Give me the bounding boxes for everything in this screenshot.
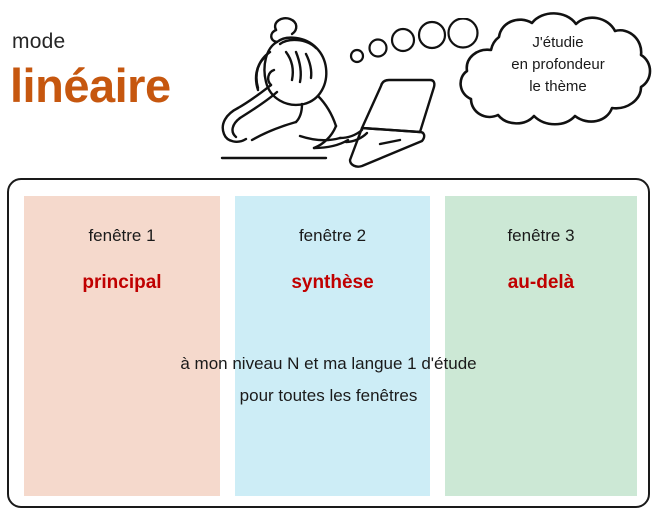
- thought-cloud-line-2: en profondeur: [478, 54, 638, 76]
- window-panel-2-name: synthèse: [235, 271, 430, 294]
- mode-label: mode: [12, 30, 65, 54]
- mode-value: linéaire: [10, 58, 171, 114]
- thought-cloud-line-3: le thème: [478, 76, 638, 98]
- window-panel-3-label: fenêtre 3: [445, 226, 637, 246]
- window-panel-3-name: au-delà: [445, 271, 637, 294]
- window-panel-2-label: fenêtre 2: [235, 226, 430, 246]
- thought-cloud-text: J'étudie en profondeur le thème: [478, 32, 638, 98]
- header-zone: mode linéaire: [0, 0, 659, 175]
- thought-cloud-line-1: J'étudie: [478, 32, 638, 54]
- window-panel-1[interactable]: fenêtre 1 principal: [24, 196, 220, 496]
- window-panel-1-name: principal: [24, 271, 220, 294]
- window-container: fenêtre 1 principal fenêtre 2 synthèse f…: [7, 178, 650, 508]
- window-panel-2[interactable]: fenêtre 2 synthèse: [235, 196, 430, 496]
- window-panel-1-label: fenêtre 1: [24, 226, 220, 246]
- window-panel-3[interactable]: fenêtre 3 au-delà: [445, 196, 637, 496]
